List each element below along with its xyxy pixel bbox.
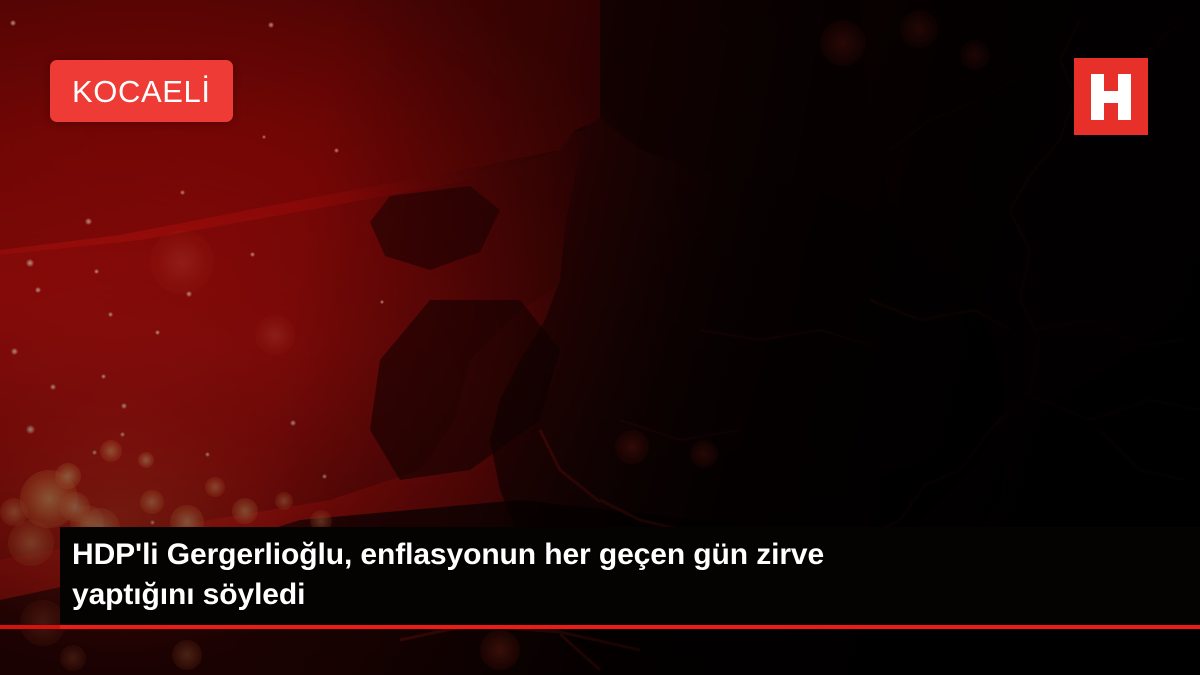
caption-line-1: HDP'li Gergerlioğlu, enflasyonun her geç…	[72, 535, 1200, 575]
caption-line-2: yaptığını söyledi	[72, 575, 1200, 615]
haberler-h-logo	[1074, 58, 1148, 135]
location-badge: KOCAELİ	[50, 60, 233, 122]
news-banner-image: KOCAELİ HDP'li Gergerlioğlu, enflasyonun…	[0, 0, 1200, 675]
caption-bar: HDP'li Gergerlioğlu, enflasyonun her geç…	[60, 527, 1200, 625]
caption-accent-rule	[60, 625, 1200, 629]
location-badge-label: KOCAELİ	[72, 76, 211, 107]
caption-accent-rule-left	[0, 625, 60, 629]
